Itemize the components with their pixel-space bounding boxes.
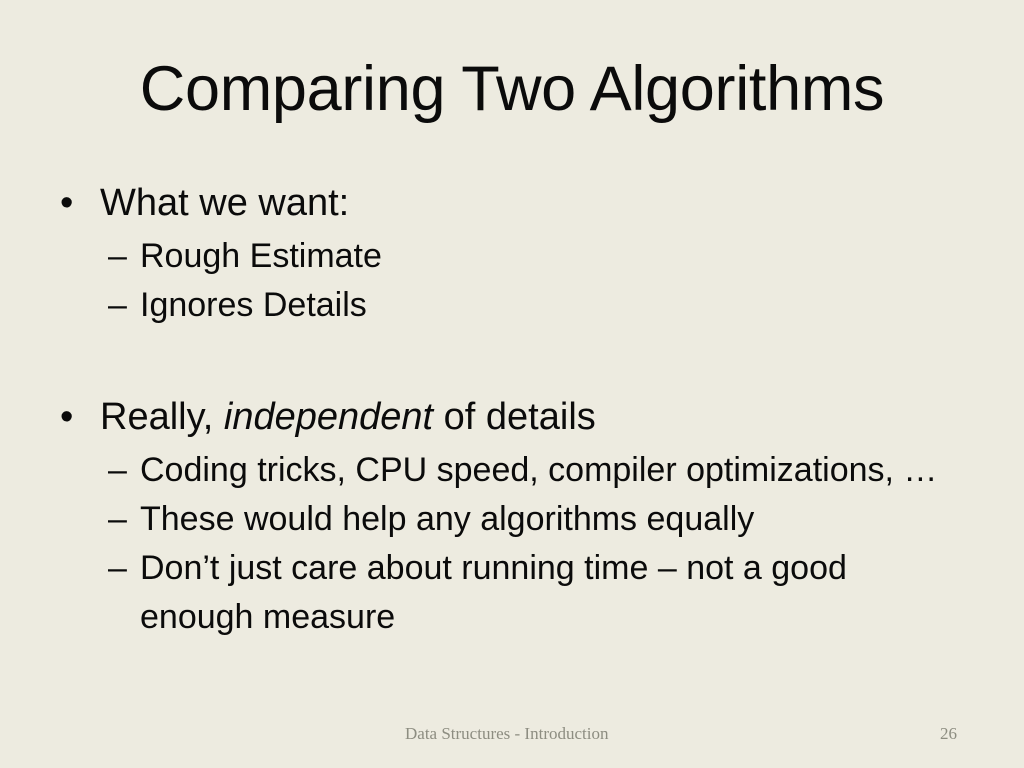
bullet-what-we-want: • What we want: [0, 178, 1024, 228]
dash-icon: – [108, 544, 127, 593]
sub-bullet-ignores-details: – Ignores Details [0, 281, 1024, 330]
dash-icon: – [108, 446, 127, 495]
sub-bullet-running-time: – Don’t just care about running time – n… [0, 544, 1024, 642]
sub-bullet-label: Ignores Details [140, 286, 367, 324]
sub-bullet-coding-tricks: – Coding tricks, CPU speed, compiler opt… [0, 446, 1024, 495]
dash-icon: – [108, 495, 127, 544]
bullet-dot-icon: • [60, 178, 73, 228]
bullet-label-prefix: Really, [100, 396, 224, 438]
dash-icon: – [108, 281, 127, 330]
page-title: Comparing Two Algorithms [60, 56, 964, 123]
slide-footer: Data Structures - Introduction 26 [0, 722, 1024, 750]
bullet-label-emphasis: independent [224, 396, 433, 438]
sub-bullet-rough-estimate: – Rough Estimate [0, 232, 1024, 281]
bullet-really-independent: •Really, independent of details [0, 392, 1024, 442]
dash-icon: – [108, 232, 127, 281]
sub-bullet-help-equally: – These would help any algorithms equall… [0, 495, 1024, 544]
content-group-1: • What we want: – Rough Estimate – Ignor… [0, 178, 1024, 330]
content-group-2: •Really, independent of details – Coding… [0, 392, 1024, 642]
sub-bullet-label: These would help any algorithms equally [140, 500, 754, 538]
slide-canvas: Comparing Two Algorithms • What we want:… [0, 0, 1024, 768]
slide-body: • What we want: – Rough Estimate – Ignor… [0, 178, 1024, 642]
bullet-label-suffix: of details [433, 396, 596, 438]
sub-bullet-label: Rough Estimate [140, 237, 382, 275]
bullet-label: What we want: [100, 182, 349, 224]
sub-bullet-label: Don’t just care about running time – not… [140, 549, 847, 636]
group-spacer [0, 330, 1024, 392]
bullet-dot-icon: • [60, 392, 73, 442]
slide-number: 26 [940, 722, 980, 746]
footer-title: Data Structures - Introduction [405, 722, 608, 746]
sub-bullet-label: Coding tricks, CPU speed, compiler optim… [140, 451, 937, 489]
